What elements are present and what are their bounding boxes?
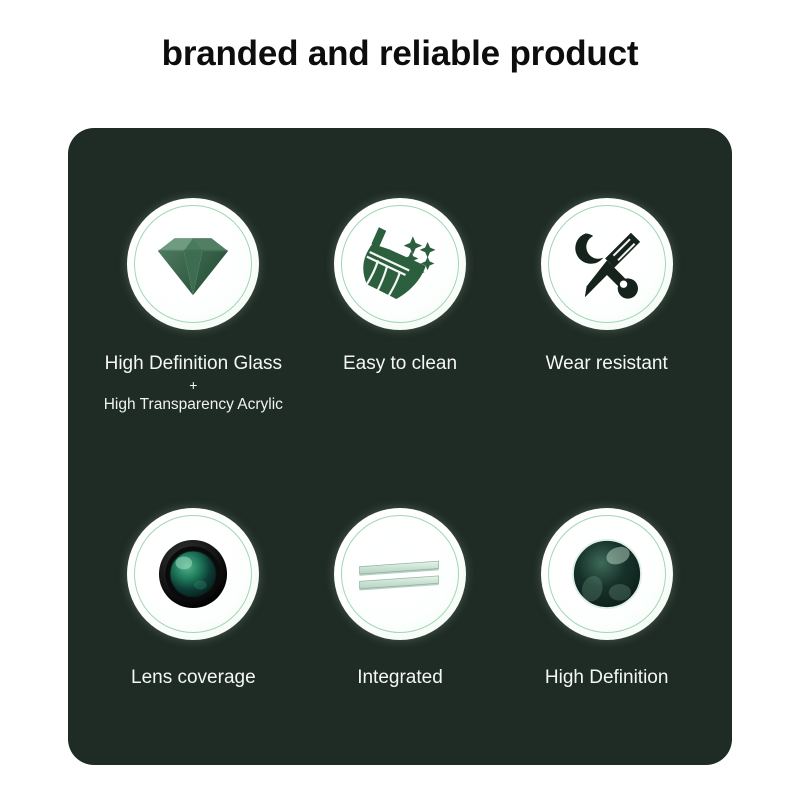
feature-label-group: Easy to clean bbox=[343, 352, 457, 376]
feature-item[interactable]: High Definition Glass + High Transparenc… bbox=[90, 198, 297, 508]
diamond-icon bbox=[147, 218, 239, 310]
product-feature-banner: branded and reliable product bbox=[0, 0, 800, 800]
feature-item[interactable]: Wear resistant bbox=[503, 198, 710, 508]
feature-label-group: Wear resistant bbox=[546, 352, 668, 376]
stacked-glass-layers-icon bbox=[354, 528, 446, 620]
feature-sublabel: High Transparency Acrylic bbox=[104, 395, 283, 414]
broom-sparkle-icon bbox=[354, 218, 446, 310]
feature-badge bbox=[127, 508, 259, 640]
glossy-sphere-icon bbox=[561, 528, 653, 620]
feature-badge bbox=[127, 198, 259, 330]
feature-label: Easy to clean bbox=[343, 352, 457, 376]
camera-lens-icon bbox=[147, 528, 239, 620]
feature-label-group: High Definition bbox=[545, 666, 669, 690]
feature-item[interactable]: Integrated bbox=[297, 508, 504, 725]
feature-label-group: Lens coverage bbox=[131, 666, 256, 690]
feature-badge bbox=[541, 198, 673, 330]
features-grid: High Definition Glass + High Transparenc… bbox=[68, 128, 732, 765]
feature-badge bbox=[334, 508, 466, 640]
feature-label: High Definition bbox=[545, 666, 669, 690]
feature-label-plus: + bbox=[104, 377, 283, 395]
feature-item[interactable]: Easy to clean bbox=[297, 198, 504, 508]
feature-label: Wear resistant bbox=[546, 352, 668, 376]
feature-item[interactable]: Lens coverage bbox=[90, 508, 297, 725]
feature-badge bbox=[334, 198, 466, 330]
feature-label: High Definition Glass bbox=[104, 352, 283, 376]
feature-label-group: High Definition Glass + High Transparenc… bbox=[104, 352, 283, 415]
feature-item[interactable]: High Definition bbox=[503, 508, 710, 725]
wrench-screwdriver-icon bbox=[561, 218, 653, 310]
features-card: High Definition Glass + High Transparenc… bbox=[68, 128, 732, 765]
feature-label: Lens coverage bbox=[131, 666, 256, 690]
feature-label-group: Integrated bbox=[357, 666, 443, 690]
feature-label: Integrated bbox=[357, 666, 443, 690]
feature-badge bbox=[541, 508, 673, 640]
page-title: branded and reliable product bbox=[0, 34, 800, 74]
